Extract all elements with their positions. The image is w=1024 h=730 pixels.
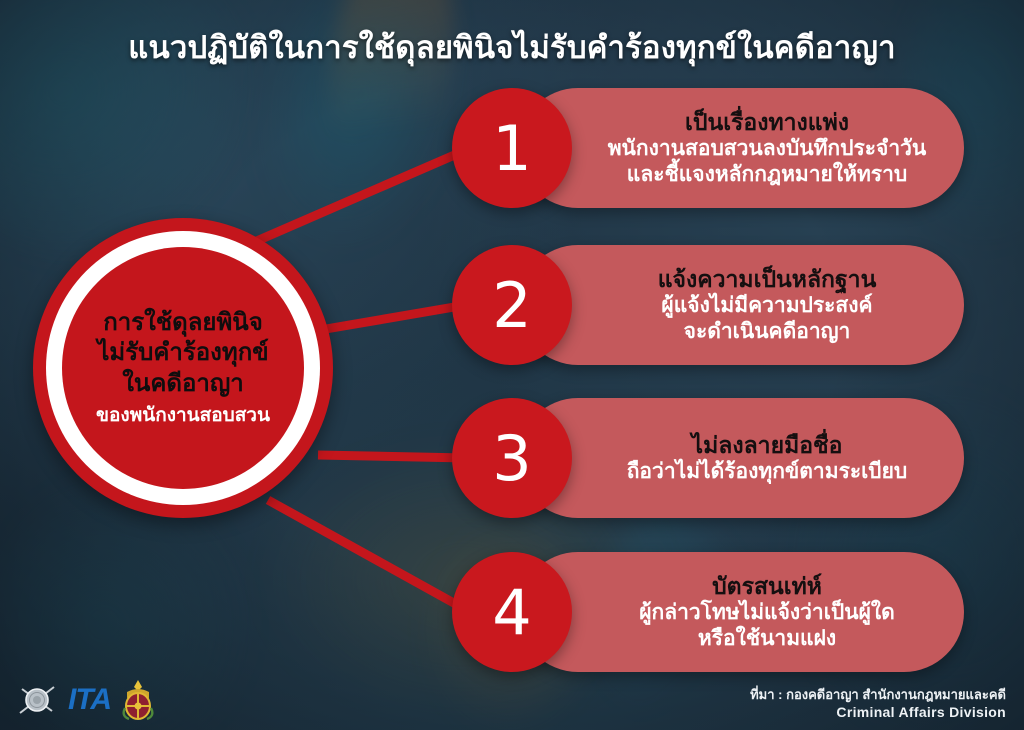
connector-to-item-4 [268, 500, 470, 612]
item-panel-1: เป็นเรื่องทางแพ่ง พนักงานสอบสวนลงบันทึกป… [518, 88, 964, 208]
hub-subtitle: ของพนักงานสอบสวน [96, 404, 270, 428]
item-heading-4: บัตรสนเท่ห์ [712, 572, 822, 600]
hub-line-3: ในคดีอาญา [96, 369, 270, 400]
item-body-line-1-2: และชี้แจงหลักกฎหมายให้ทราบ [627, 162, 907, 188]
item-panel-4: บัตรสนเท่ห์ ผู้กล่าวโทษไม่แจ้งว่าเป็นผู้… [518, 552, 964, 672]
item-heading-1: เป็นเรื่องทางแพ่ง [685, 108, 849, 136]
item-number-badge-4: 4 [452, 552, 572, 672]
item-body-line-1-1: พนักงานสอบสวนลงบันทึกประจำวัน [608, 136, 927, 162]
item-panel-2: แจ้งความเป็นหลักฐาน ผู้แจ้งไม่มีความประส… [518, 245, 964, 365]
source-credit: ที่มา : กองคดีอาญา สำนักงานกฎหมายและคดี … [750, 686, 1006, 722]
royal-crest-icon [121, 678, 155, 722]
hub-line-1: การใช้ดุลยพินิจ [96, 308, 270, 339]
item-body-line-4-2: หรือใช้นามแฝง [698, 626, 836, 652]
item-number-badge-1: 1 [452, 88, 572, 208]
police-seal-icon [16, 679, 58, 721]
item-panel-3: ไม่ลงลายมือชื่อ ถือว่าไม่ได้ร้องทุกข์ตาม… [518, 398, 964, 518]
item-heading-3: ไม่ลงลายมือชื่อ [692, 431, 843, 459]
hub-line-2: ไม่รับคำร้องทุกข์ [96, 338, 270, 369]
item-body-line-4-1: ผู้กล่าวโทษไม่แจ้งว่าเป็นผู้ใด [639, 600, 895, 626]
source-line-english: Criminal Affairs Division [750, 703, 1006, 722]
item-number-badge-3: 3 [452, 398, 572, 518]
ita-wordmark: ITA [68, 685, 111, 715]
infographic-canvas: แนวปฏิบัติในการใช้ดุลยพินิจไม่รับคำร้องท… [0, 0, 1024, 730]
central-hub: การใช้ดุลยพินิจ ไม่รับคำร้องทุกข์ ในคดีอ… [33, 218, 333, 518]
source-line-thai: ที่มา : กองคดีอาญา สำนักงานกฎหมายและคดี [750, 686, 1006, 703]
item-body-line-2-1: ผู้แจ้งไม่มีความประสงค์ [661, 293, 872, 319]
item-body-line-3-1: ถือว่าไม่ได้ร้องทุกข์ตามระเบียบ [627, 459, 908, 485]
connector-to-item-3 [318, 455, 466, 458]
logo-group: ITA [16, 678, 155, 722]
connector-to-item-2 [320, 305, 466, 330]
hub-text-block: การใช้ดุลยพินิจ ไม่รับคำร้องทุกข์ ในคดีอ… [74, 308, 292, 428]
item-number-badge-2: 2 [452, 245, 572, 365]
item-body-line-2-2: จะดำเนินคดีอาญา [684, 319, 851, 345]
connector-to-item-1 [236, 150, 466, 250]
item-heading-2: แจ้งความเป็นหลักฐาน [658, 265, 877, 293]
